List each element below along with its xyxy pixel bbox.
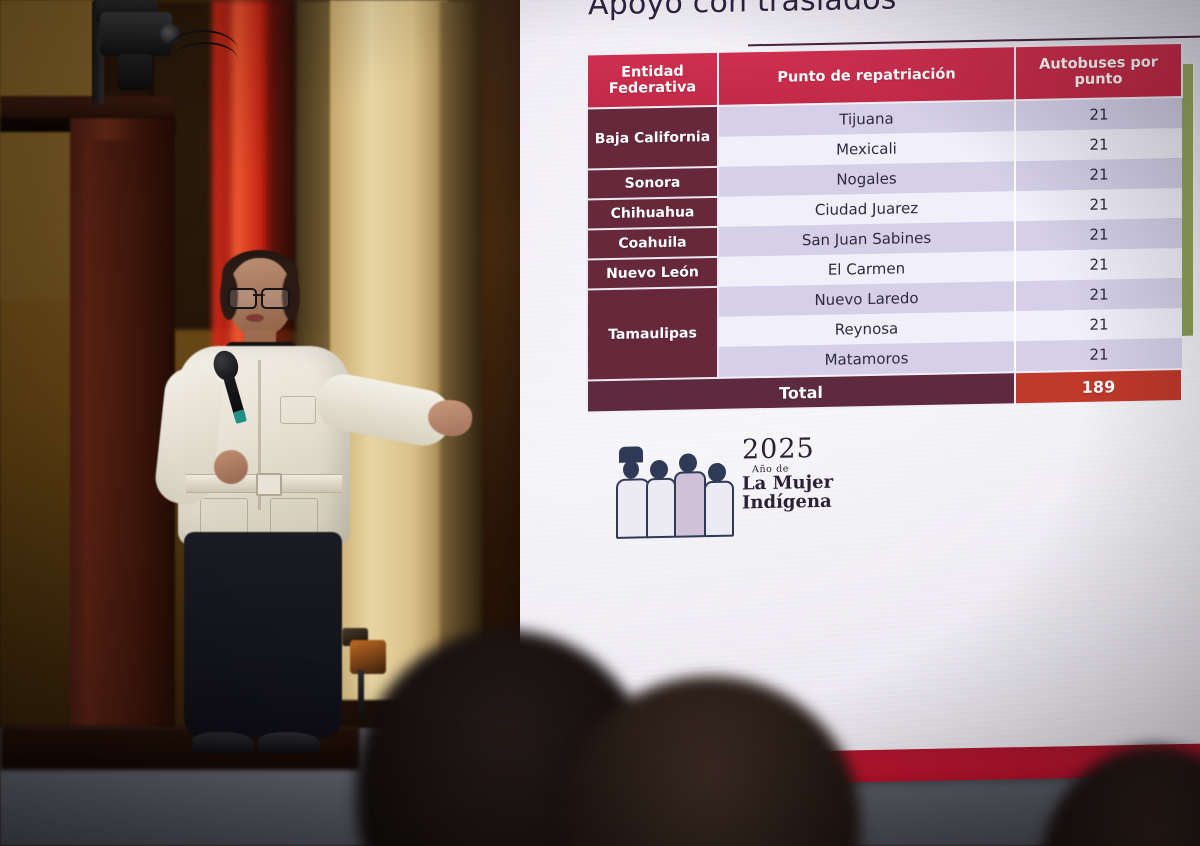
table-body: Baja California Tijuana 21 Mexicali 21 S…	[587, 97, 1182, 412]
jacket-pocket-left	[200, 498, 248, 534]
indigenous-women-illustration	[616, 441, 734, 535]
page-title: Apoyo con traslados	[588, 0, 897, 22]
cell-entidad: Tamaulipas	[587, 287, 718, 381]
glasses-icon	[228, 288, 290, 305]
cell-autobuses: 21	[1015, 158, 1182, 191]
camera-cable-2	[172, 42, 238, 78]
head-icon	[708, 463, 726, 482]
cell-autobuses: 21	[1015, 128, 1182, 161]
slide-content: Apoyo con traslados Entidad Federativa P…	[520, 0, 1200, 757]
total-value: 189	[1015, 369, 1182, 404]
cell-autobuses: 21	[1015, 278, 1182, 311]
cell-entidad: Chihuahua	[587, 197, 718, 230]
jacket-pocket-right	[270, 498, 318, 534]
glasses-lens-left	[228, 288, 257, 309]
jacket-chest-pocket	[280, 396, 316, 424]
black-skirt	[184, 532, 342, 738]
camera-bracket	[118, 54, 152, 90]
cell-autobuses: 21	[1015, 338, 1182, 372]
hand-left-holding-mic	[214, 450, 248, 484]
body-icon	[704, 481, 734, 538]
head-icon	[623, 460, 639, 478]
logo-line3: Indígena	[742, 492, 842, 513]
cell-autobuses: 21	[1015, 218, 1182, 251]
column-header-punto: Punto de repatriación	[718, 46, 1015, 106]
cell-entidad: Nuevo León	[587, 257, 718, 290]
equipment-pole	[358, 670, 364, 718]
gobierno-2025-logo: 2025 Año de La Mujer Indígena	[616, 435, 841, 537]
total-label: Total	[587, 372, 1015, 412]
mouth	[246, 314, 264, 322]
head-icon	[679, 453, 697, 472]
wooden-door-panel	[84, 140, 146, 780]
head-icon	[650, 460, 668, 479]
body-icon	[616, 478, 650, 539]
column-header-entidad: Entidad Federativa	[587, 52, 718, 109]
logo-year: 2025	[742, 435, 842, 464]
shoe-left	[192, 732, 254, 754]
shoe-right	[258, 732, 320, 754]
cell-autobuses: 21	[1015, 97, 1182, 131]
cell-autobuses: 21	[1015, 248, 1182, 281]
body-icon	[646, 478, 676, 539]
logo-text-block: 2025 Año de La Mujer Indígena	[742, 435, 842, 513]
figure-3	[674, 453, 702, 534]
equipment-body	[350, 640, 386, 674]
body-icon	[674, 471, 706, 538]
screenshot-stage: Apoyo con traslados Entidad Federativa P…	[0, 0, 1200, 846]
cell-entidad: Baja California	[587, 106, 718, 170]
cell-autobuses: 21	[1015, 308, 1182, 341]
figure-1	[616, 450, 646, 535]
cell-entidad: Coahuila	[587, 227, 718, 260]
repatriation-table: Entidad Federativa Punto de repatriación…	[586, 42, 1183, 413]
figure-4	[704, 463, 730, 533]
column-header-autobuses: Autobuses por punto	[1015, 43, 1182, 100]
figure-2	[646, 460, 672, 534]
cell-entidad: Sonora	[587, 167, 718, 200]
cell-autobuses: 21	[1015, 188, 1182, 221]
belt-buckle	[256, 473, 282, 496]
glasses-lens-right	[261, 288, 290, 309]
